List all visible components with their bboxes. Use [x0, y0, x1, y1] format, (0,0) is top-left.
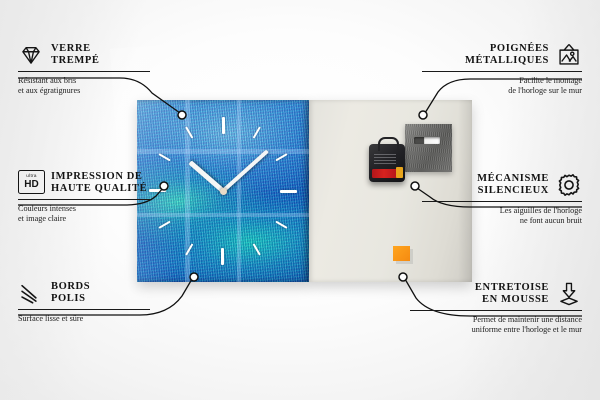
callout-mecanisme-silencieux: MÉCANISME SILENCIEUX Les aiguilles de l'…	[422, 172, 582, 226]
callout-rule	[18, 309, 150, 310]
callout-title: IMPRESSION DE HAUTE QUALITÉ	[51, 171, 147, 196]
mechanism-hook	[378, 137, 399, 151]
ultra-hd-icon: ultra HD	[18, 170, 44, 196]
battery-terminal	[396, 167, 403, 178]
metal-hanger-part	[405, 124, 452, 172]
callout-header: BORDS POLIS	[18, 280, 150, 306]
clock-tick	[149, 190, 223, 192]
callout-header: POIGNÉES MÉTALLIQUES	[422, 42, 582, 68]
callout-rule	[422, 201, 582, 202]
foam-spacer-icon	[556, 281, 582, 307]
hanger-slot	[414, 137, 440, 144]
callout-header: VERRE TREMPÉ	[18, 42, 150, 68]
clock-tick	[223, 190, 297, 192]
clock-hub	[220, 188, 227, 195]
callout-title: MÉCANISME SILENCIEUX	[477, 173, 549, 198]
clock-tick	[222, 117, 224, 191]
callout-header: ENTRETOISE EN MOUSSE	[410, 281, 582, 307]
callout-title: ENTRETOISE EN MOUSSE	[475, 282, 549, 307]
clock-tick	[158, 190, 223, 229]
callout-header: MÉCANISME SILENCIEUX	[422, 172, 582, 198]
callout-rule	[18, 199, 150, 200]
callout-header: ultra HD IMPRESSION DE HAUTE QUALITÉ	[18, 170, 150, 196]
diamond-icon	[18, 42, 44, 68]
product-infographic: VERRE TREMPÉ Résistant aux bris et aux é…	[0, 0, 600, 400]
gear-icon	[556, 172, 582, 198]
hanging-frame-icon	[556, 42, 582, 68]
callout-rule	[18, 71, 150, 72]
clock-tick	[222, 191, 224, 265]
clock-dial	[137, 100, 309, 282]
callout-rule	[422, 71, 582, 72]
polished-edges-icon	[18, 280, 44, 306]
callout-title: VERRE TREMPÉ	[51, 43, 100, 68]
foam-spacer-part	[393, 246, 410, 261]
clock-face-panel	[137, 100, 309, 282]
battery-part	[372, 169, 402, 178]
callout-verre-trempe: VERRE TREMPÉ Résistant aux bris et aux é…	[18, 42, 150, 96]
mechanism-label	[374, 154, 396, 164]
clock-mechanism-part	[369, 144, 405, 182]
callout-title: BORDS POLIS	[51, 281, 90, 306]
callout-rule	[410, 310, 582, 311]
callout-entretoise-mousse: ENTRETOISE EN MOUSSE Permet de maintenir…	[410, 281, 582, 335]
callout-impression-hd: ultra HD IMPRESSION DE HAUTE QUALITÉ Cou…	[18, 170, 150, 224]
callout-title: POIGNÉES MÉTALLIQUES	[465, 43, 549, 68]
minute-hand	[222, 149, 269, 192]
callout-bords-polis: BORDS POLIS Surface lisse et sûre	[18, 280, 150, 324]
callout-poignees-metalliques: POIGNÉES MÉTALLIQUES Facilite le montage…	[422, 42, 582, 96]
